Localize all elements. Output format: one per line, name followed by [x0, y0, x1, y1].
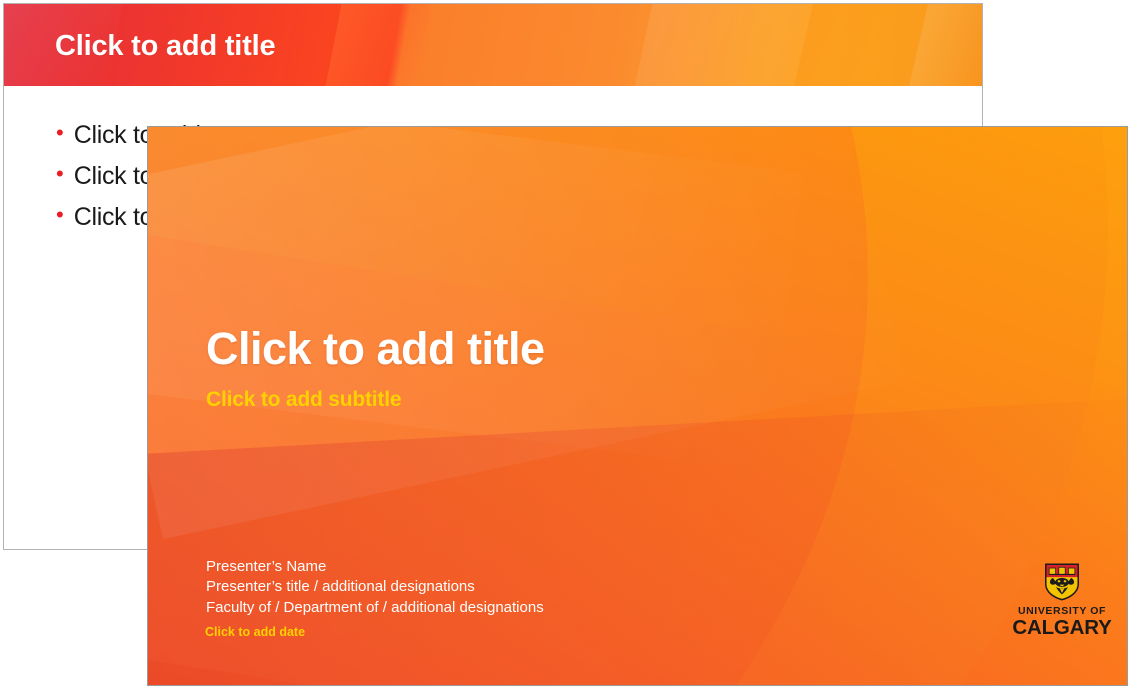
- presenter-title-line: Presenter’s title / additional designati…: [206, 577, 544, 597]
- logo-wordmark-line1: UNIVERSITY OF: [1012, 606, 1111, 617]
- slide-preview-canvas: Click to add title • Click to add text •…: [0, 0, 1129, 689]
- title-slide-title-placeholder[interactable]: Click to add title: [206, 323, 545, 375]
- content-slide-title-placeholder[interactable]: Click to add title: [55, 30, 275, 63]
- date-placeholder[interactable]: Click to add date: [205, 625, 305, 639]
- shield-crest-icon: [1043, 562, 1081, 602]
- title-slide-subtitle-placeholder[interactable]: Click to add subtitle: [206, 388, 401, 412]
- bullet-dot-icon: •: [56, 122, 64, 144]
- header-facet-2: [324, 4, 433, 86]
- presenter-info-block[interactable]: Presenter’s Name Presenter’s title / add…: [206, 557, 544, 618]
- logo-wordmark-line2: CALGARY: [1012, 618, 1111, 639]
- presenter-faculty-line: Faculty of / Department of / additional …: [206, 598, 544, 618]
- bullet-dot-icon: •: [56, 163, 64, 185]
- bullet-dot-icon: •: [56, 204, 64, 226]
- presenter-name-line: Presenter’s Name: [206, 557, 544, 577]
- title-slide-thumbnail[interactable]: Click to add title Click to add subtitle…: [147, 126, 1128, 686]
- logo-wordmark: UNIVERSITY OF CALGARY: [1012, 606, 1111, 638]
- university-of-calgary-logo: UNIVERSITY OF CALGARY: [1014, 562, 1110, 660]
